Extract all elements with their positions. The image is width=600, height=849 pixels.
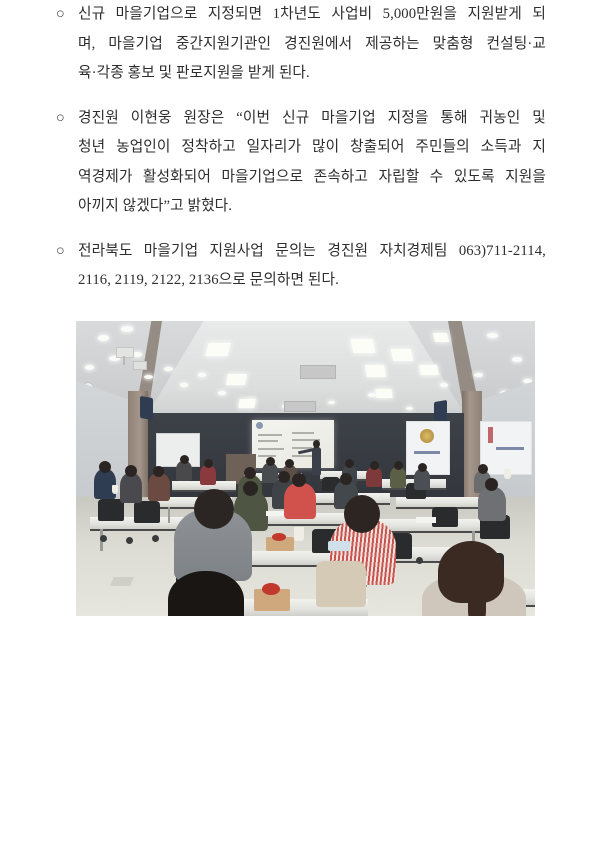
wall-speaker-right bbox=[434, 400, 447, 423]
line-word: 063)711-2114, bbox=[459, 237, 546, 267]
line-word: 창출되어 bbox=[350, 133, 404, 163]
paragraph-3-line-1: 전라북도마을기업지원사업문의는경진원자치경제팀063)711-2114, bbox=[78, 237, 546, 267]
attendee bbox=[120, 473, 142, 503]
line-word: 맞춤형 bbox=[433, 30, 474, 60]
ceiling-downlight bbox=[121, 326, 133, 332]
paragraph-3-lines: 전라북도마을기업지원사업문의는경진원자치경제팀063)711-2114, 211… bbox=[78, 237, 546, 296]
line-word: 역경제가 bbox=[78, 163, 132, 193]
line-word: 농업인이 bbox=[116, 133, 170, 163]
line-word: 경진원에서 bbox=[284, 30, 352, 60]
presenter-body bbox=[312, 447, 321, 475]
ceiling-panel-light bbox=[226, 374, 247, 385]
attendee-head bbox=[194, 489, 234, 529]
paragraph-1-line-2: 며,마을기업중간지원기관인경진원에서제공하는맞춤형컨설팅·교 bbox=[78, 30, 546, 60]
attendee-head bbox=[285, 459, 294, 468]
wall-speaker-left bbox=[140, 396, 153, 420]
line-word: 지정되면 bbox=[208, 0, 262, 30]
banner-seal-icon bbox=[420, 429, 434, 443]
chair bbox=[134, 501, 160, 523]
line-word: 이현웅 bbox=[131, 104, 172, 134]
line-word: 수 bbox=[430, 163, 444, 193]
ceiling-downlight bbox=[98, 335, 109, 341]
paragraph-1-line-1: 신규마을기업으로지정되면1차년도사업비5,000만원을지원받게되 bbox=[78, 0, 546, 30]
paper-sheet bbox=[416, 517, 436, 523]
floor-marking bbox=[110, 577, 134, 586]
ceiling-downlight bbox=[198, 373, 206, 377]
banner-text-line bbox=[414, 451, 440, 454]
ceiling-vent bbox=[300, 365, 336, 379]
screen-text-line bbox=[258, 434, 282, 436]
paragraph-3: ○ 전라북도마을기업지원사업문의는경진원자치경제팀063)711-2114, 2… bbox=[56, 237, 546, 296]
line-word: 소득과 bbox=[481, 133, 522, 163]
paper-cup bbox=[294, 527, 304, 541]
ceiling-panel-light bbox=[205, 343, 230, 356]
attendee-head bbox=[418, 463, 427, 472]
ceiling-panel-light bbox=[433, 333, 449, 342]
snack-item bbox=[272, 533, 286, 541]
paper-cup bbox=[112, 485, 118, 494]
screen-logo-icon bbox=[256, 422, 263, 429]
ceiling-downlight bbox=[440, 383, 448, 387]
line-word: 신규 bbox=[282, 104, 309, 134]
attendee-head bbox=[153, 466, 164, 477]
line-word: 컨설팅·교 bbox=[487, 30, 546, 60]
attendee-head bbox=[340, 473, 352, 485]
paragraph-2-line-3: 역경제가활성화되어마을기업으로존속하고자립할수있도록지원을 bbox=[78, 163, 546, 193]
ceiling-downlight bbox=[487, 333, 498, 338]
bullet-marker-2: ○ bbox=[56, 104, 76, 134]
line-word: 마을기업 bbox=[108, 30, 162, 60]
ceiling-downlight bbox=[523, 379, 532, 383]
paper-sheet bbox=[328, 541, 350, 551]
paragraph-2-line-4: 아끼지 않겠다”고 밝혔다. bbox=[78, 192, 546, 222]
line-word: 되 bbox=[532, 0, 546, 30]
ceiling-downlight bbox=[328, 401, 335, 404]
attendee-head bbox=[266, 457, 275, 466]
paragraph-1-lines: 신규마을기업으로지정되면1차년도사업비5,000만원을지원받게되 며,마을기업중… bbox=[78, 0, 546, 89]
attendee-head bbox=[125, 465, 137, 477]
ceiling-downlight bbox=[164, 367, 173, 371]
line-word: 경진원 bbox=[327, 237, 368, 267]
ceiling-panel-light bbox=[238, 399, 255, 408]
line-word: 5,000만원을 bbox=[383, 0, 457, 30]
attendee bbox=[148, 473, 170, 501]
banner-accent-mark bbox=[488, 427, 493, 443]
attendee bbox=[478, 487, 506, 521]
line-word: 지정을 bbox=[388, 104, 429, 134]
snack-item bbox=[262, 583, 280, 595]
attendee bbox=[262, 463, 278, 483]
line-word: 며, bbox=[78, 30, 95, 60]
attendee-head bbox=[292, 473, 306, 487]
line-word: 문의는 bbox=[275, 237, 316, 267]
paragraph-2-lines: 경진원이현웅원장은“이번신규마을기업지정을통해귀농인및 청년농업인이정착하고일자… bbox=[78, 104, 546, 222]
attendee-red-shirt bbox=[284, 483, 316, 519]
line-word: 지원사업 bbox=[209, 237, 263, 267]
screen-text-line bbox=[258, 448, 284, 450]
document-body: ○ 신규마을기업으로지정되면1차년도사업비5,000만원을지원받게되 며,마을기… bbox=[56, 0, 546, 296]
ceiling-vent bbox=[284, 401, 316, 412]
screen-text-line bbox=[258, 455, 276, 457]
line-word: 있도록 bbox=[454, 163, 495, 193]
chair-wheel bbox=[100, 535, 107, 542]
bullet-marker-3: ○ bbox=[56, 237, 76, 267]
ceiling-panel-light bbox=[375, 389, 392, 398]
ceiling-panel-light bbox=[391, 349, 414, 361]
line-word: 청년 bbox=[78, 133, 105, 163]
bullet-marker-1: ○ bbox=[56, 0, 76, 30]
attendee-head bbox=[394, 461, 403, 470]
tote-bag bbox=[316, 561, 366, 607]
paper-sheet bbox=[266, 511, 284, 516]
attendee bbox=[366, 467, 382, 487]
line-word: 원장은 bbox=[184, 104, 225, 134]
paragraph-2-line-1: 경진원이현웅원장은“이번신규마을기업지정을통해귀농인및 bbox=[78, 104, 546, 134]
ceiling-downlight bbox=[406, 407, 413, 410]
attendee bbox=[390, 467, 406, 488]
attendee-head bbox=[370, 461, 379, 470]
seminar-room-photo bbox=[76, 321, 535, 616]
ceiling-downlight bbox=[85, 365, 94, 370]
line-word: 전라북도 bbox=[78, 237, 132, 267]
screen-text-line bbox=[258, 440, 278, 442]
paragraph-1-line-3: 육·각종 홍보 및 판로지원을 받게 된다. bbox=[78, 59, 546, 89]
line-word: 마을기업으로 bbox=[116, 0, 198, 30]
line-word: 제공하는 bbox=[365, 30, 419, 60]
attendee-head bbox=[278, 471, 290, 483]
paragraph-1: ○ 신규마을기업으로지정되면1차년도사업비5,000만원을지원받게되 며,마을기… bbox=[56, 0, 546, 89]
document-page: ○ 신규마을기업으로지정되면1차년도사업비5,000만원을지원받게되 며,마을기… bbox=[0, 0, 600, 849]
ceiling-projector bbox=[116, 347, 134, 358]
chair-wheel bbox=[126, 537, 133, 544]
line-word: 마을기업으로 bbox=[221, 163, 303, 193]
ceiling-downlight bbox=[144, 375, 153, 379]
attendee bbox=[176, 461, 192, 481]
attendee-head bbox=[344, 495, 380, 533]
ceiling-panel-light bbox=[365, 365, 386, 377]
line-word: 존속하고 bbox=[314, 163, 368, 193]
line-word: 신규 bbox=[78, 0, 105, 30]
line-word: 중간지원기관인 bbox=[176, 30, 271, 60]
line-word: 귀농인 bbox=[480, 104, 521, 134]
line-word: 일자리가 bbox=[247, 133, 301, 163]
ceiling-downlight bbox=[368, 393, 376, 397]
desk-leg bbox=[168, 507, 170, 523]
chair-wheel bbox=[152, 535, 159, 542]
line-word: 지원을 bbox=[505, 163, 546, 193]
presenter-head bbox=[313, 440, 320, 448]
line-word: 마을기업 bbox=[321, 104, 375, 134]
attendee-head bbox=[485, 478, 498, 491]
paragraph-2: ○ 경진원이현웅원장은“이번신규마을기업지정을통해귀농인및 청년농업인이정착하고… bbox=[56, 104, 546, 222]
paragraph-2-line-2: 청년농업인이정착하고일자리가많이창출되어주민들의소득과지 bbox=[78, 133, 546, 163]
line-word: 주민들의 bbox=[415, 133, 469, 163]
line-word: 및 bbox=[532, 104, 546, 134]
screen-text-line bbox=[292, 432, 314, 434]
attendee-head bbox=[99, 461, 111, 473]
ceiling-downlight bbox=[512, 357, 522, 362]
line-word: 자립할 bbox=[378, 163, 419, 193]
line-word: 사업비 bbox=[331, 0, 372, 30]
attendee-head bbox=[345, 459, 354, 468]
attendee bbox=[414, 469, 430, 490]
attendee-head bbox=[478, 464, 488, 474]
line-word: 지 bbox=[532, 133, 546, 163]
ponytail bbox=[468, 585, 486, 616]
line-word: 지원받게 bbox=[467, 0, 521, 30]
ceiling-downlight bbox=[180, 383, 188, 387]
ceiling-projector bbox=[133, 361, 147, 370]
line-word: 활성화되어 bbox=[143, 163, 211, 193]
attendee-head bbox=[180, 455, 189, 464]
attendee-head bbox=[204, 459, 213, 468]
ceiling-panel-light bbox=[351, 339, 376, 353]
line-word: 마을기업 bbox=[144, 237, 198, 267]
line-word: 많이 bbox=[312, 133, 339, 163]
line-word: 통해 bbox=[440, 104, 467, 134]
line-word: 정착하고 bbox=[181, 133, 235, 163]
ceiling-panel-light bbox=[419, 365, 439, 375]
attendee-head bbox=[244, 467, 256, 479]
ceiling-downlight bbox=[474, 373, 483, 377]
projector-mount bbox=[123, 356, 125, 365]
paragraph-3-line-2: 2116, 2119, 2122, 2136으로 문의하면 된다. bbox=[78, 266, 546, 296]
paper-cup bbox=[504, 469, 511, 479]
line-word: 자치경제팀 bbox=[379, 237, 447, 267]
attendee-head bbox=[243, 481, 258, 496]
attendee bbox=[94, 469, 116, 499]
banner-text-line bbox=[496, 447, 524, 450]
ceiling-downlight bbox=[218, 391, 226, 395]
line-word: 경진원 bbox=[78, 104, 119, 134]
chair-wheel bbox=[416, 557, 423, 564]
attendee bbox=[200, 465, 216, 485]
line-word: 1차년도 bbox=[273, 0, 321, 30]
line-word: “이번 bbox=[236, 104, 270, 134]
